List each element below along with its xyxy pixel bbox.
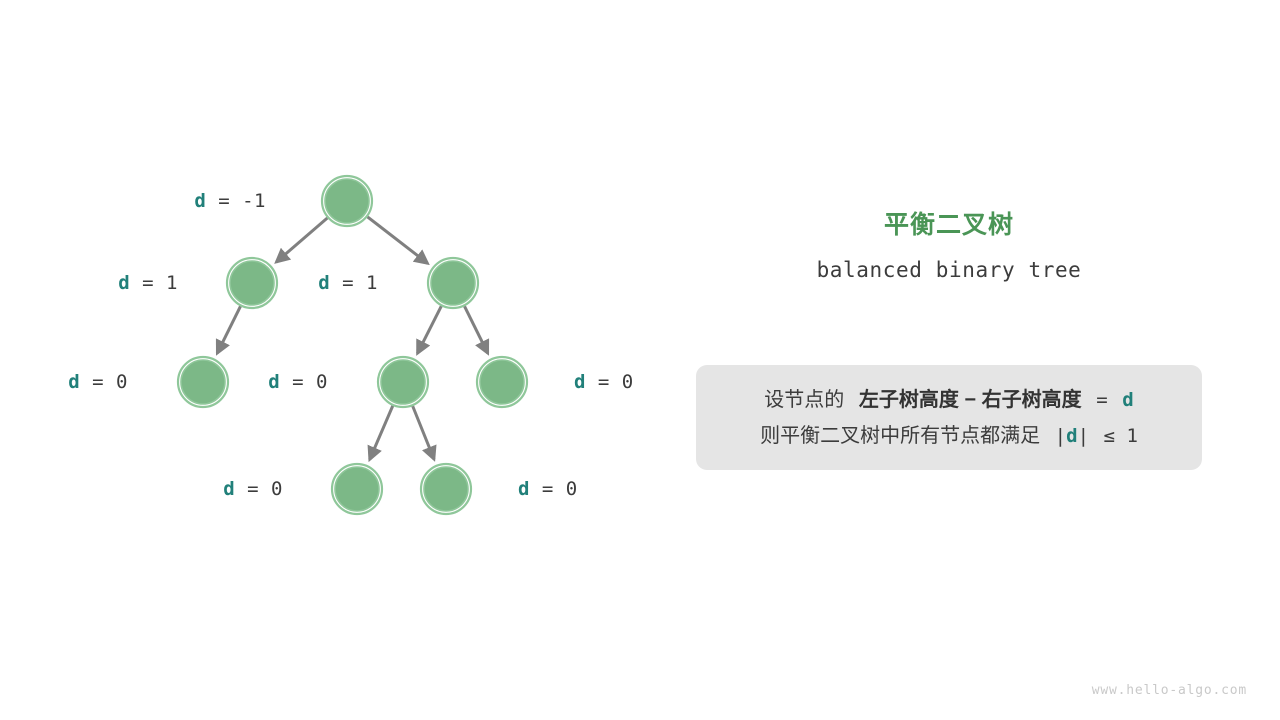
node-label-d: d (574, 371, 586, 393)
tree-node (178, 357, 228, 407)
tree-node-circle (325, 179, 369, 223)
node-label-d: d (194, 190, 206, 212)
tree-node-circle (230, 261, 274, 305)
tree-node-circle (424, 467, 468, 511)
node-label-value: = 0 (280, 371, 328, 393)
node-label-value: = 1 (330, 272, 378, 294)
node-label-value: = 0 (235, 478, 283, 500)
node-label-value: = 0 (530, 478, 578, 500)
node-label-d: d (318, 272, 330, 294)
node-balance-factor-label: d = 0 (223, 478, 283, 500)
tree-edge (217, 306, 240, 353)
tree-edge (368, 217, 428, 264)
node-balance-factor-label: d = 0 (574, 371, 634, 393)
node-label-value: = 1 (130, 272, 178, 294)
tree-node (322, 176, 372, 226)
abs-bar-close: | (1078, 425, 1089, 447)
node-label-value: = 0 (80, 371, 128, 393)
node-balance-factor-label: d = 0 (518, 478, 578, 500)
node-balance-factor-label: d = 1 (318, 272, 378, 294)
tree-edge (417, 306, 441, 353)
tree-node (421, 464, 471, 514)
tree-node-circle (335, 467, 379, 511)
abs-bar-open: | (1055, 425, 1066, 447)
watermark: www.hello-algo.com (1092, 683, 1247, 698)
tree-node (332, 464, 382, 514)
tree-edge (413, 406, 434, 459)
node-label-value: = 0 (586, 371, 634, 393)
definition-prefix: 设节点的 (764, 389, 844, 411)
page-title: 平衡二叉树 (696, 210, 1202, 240)
node-balance-factor-label: d = -1 (194, 190, 266, 212)
definition-box: 设节点的 左子树高度 − 右子树高度 = d 则平衡二叉树中所有节点都满足 |d… (696, 365, 1202, 470)
figure-canvas: d = -1d = 1d = 1d = 0d = 0d = 0d = 0d = … (0, 0, 1280, 720)
definition-line-1: 设节点的 左子树高度 − 右子树高度 = d (696, 382, 1202, 418)
condition-relation: ≤ 1 (1104, 425, 1138, 447)
tree-node-circle (480, 360, 524, 404)
condition-d-symbol: d (1066, 425, 1077, 447)
tree-nodes (178, 176, 527, 514)
condition-prefix: 则平衡二叉树中所有节点都满足 (760, 425, 1040, 447)
tree-edge (465, 306, 488, 353)
node-label-d: d (268, 371, 280, 393)
definition-formula: 左子树高度 − 右子树高度 (859, 389, 1082, 411)
node-label-d: d (223, 478, 235, 500)
tree-edges (217, 217, 488, 460)
node-balance-factor-label: d = 0 (268, 371, 328, 393)
caption-panel: 平衡二叉树 balanced binary tree (696, 210, 1202, 282)
node-label-d: d (118, 272, 130, 294)
node-label-value: = -1 (206, 190, 266, 212)
definition-equals: = (1096, 389, 1107, 411)
tree-node (227, 258, 277, 308)
tree-node-circle (181, 360, 225, 404)
binary-tree-diagram (0, 0, 660, 620)
tree-node (428, 258, 478, 308)
definition-d-symbol: d (1122, 389, 1133, 411)
node-label-d: d (68, 371, 80, 393)
page-subtitle: balanced binary tree (696, 258, 1202, 282)
node-label-d: d (518, 478, 530, 500)
tree-node-circle (381, 360, 425, 404)
tree-edge (276, 218, 327, 262)
node-balance-factor-label: d = 1 (118, 272, 178, 294)
tree-node (477, 357, 527, 407)
node-balance-factor-label: d = 0 (68, 371, 128, 393)
tree-edge (370, 406, 393, 460)
tree-node-circle (431, 261, 475, 305)
tree-node (378, 357, 428, 407)
definition-line-2: 则平衡二叉树中所有节点都满足 |d| ≤ 1 (696, 418, 1202, 454)
